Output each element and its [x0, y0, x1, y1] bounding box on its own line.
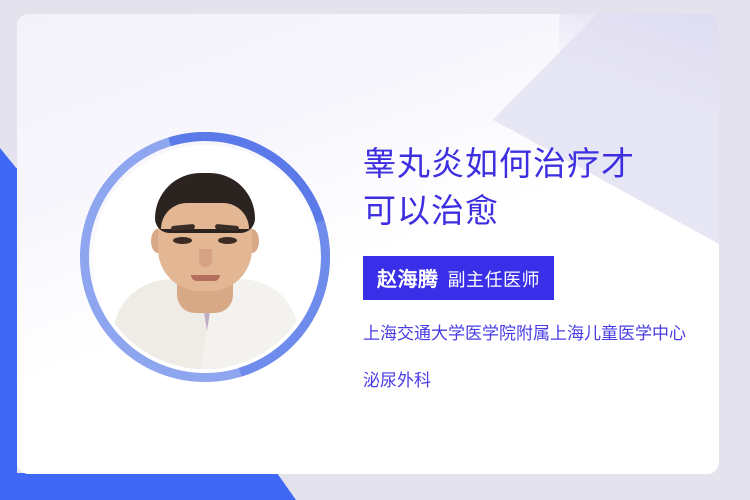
doctor-name-badge: 赵海腾副主任医师: [363, 256, 554, 300]
text-column: 睾丸炎如何治疗才可以治愈 赵海腾副主任医师 上海交通大学医学院附属上海儿童医学中…: [363, 140, 707, 394]
bottom-accent-bar-tip-decoration: [277, 473, 296, 500]
content-card: 睾丸炎如何治疗才可以治愈 赵海腾副主任医师 上海交通大学医学院附属上海儿童医学中…: [17, 14, 719, 474]
chevron-soft-shadow-decoration: [559, 14, 719, 114]
article-title: 睾丸炎如何治疗才可以治愈: [363, 140, 663, 234]
left-accent-bar-tip-decoration: [0, 148, 17, 169]
doctor-name: 赵海腾: [377, 269, 439, 291]
doctor-avatar: [80, 132, 330, 382]
bottom-accent-bar-decoration: [0, 473, 277, 500]
doctor-rank: 副主任医师: [448, 270, 541, 290]
left-accent-bar-decoration: [0, 168, 17, 500]
doctor-article-card-banner: 睾丸炎如何治疗才可以治愈 赵海腾副主任医师 上海交通大学医学院附属上海儿童医学中…: [0, 0, 750, 500]
avatar-ring-highlight: [36, 88, 374, 426]
doctor-hospital: 上海交通大学医学院附属上海儿童医学中心: [363, 320, 693, 348]
doctor-department: 泌尿外科: [363, 368, 707, 394]
